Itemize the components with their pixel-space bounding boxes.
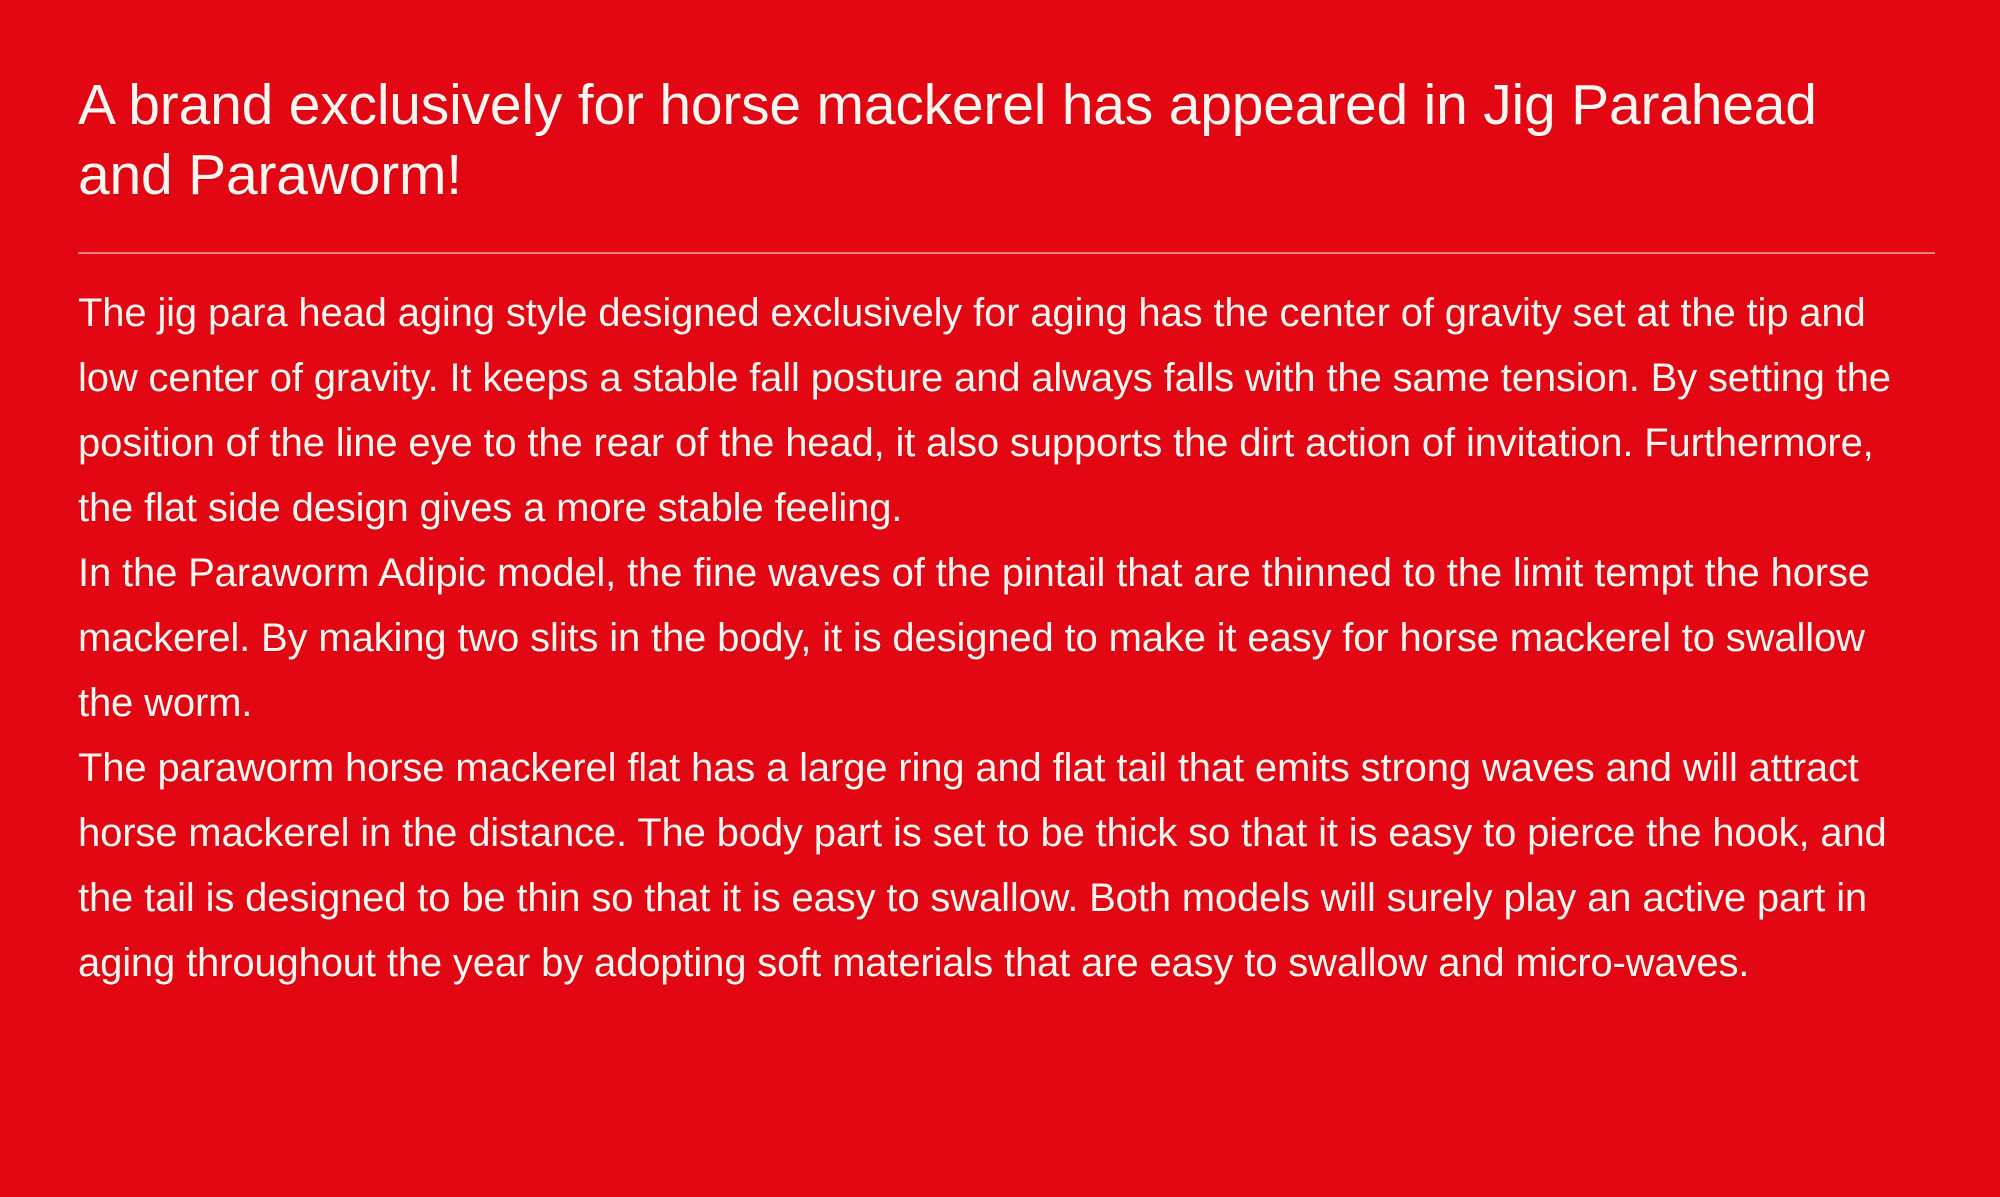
article-content: A brand exclusively for horse mackerel h… bbox=[78, 0, 1923, 996]
article-body: The jig para head aging style designed e… bbox=[78, 281, 1923, 996]
body-paragraph-2: In the Paraworm Adipic model, the fine w… bbox=[78, 541, 1923, 736]
body-paragraph-3: The paraworm horse mackerel flat has a l… bbox=[78, 736, 1923, 996]
page-title: A brand exclusively for horse mackerel h… bbox=[78, 0, 1868, 210]
title-divider bbox=[78, 252, 1935, 254]
page-root: A brand exclusively for horse mackerel h… bbox=[0, 0, 2000, 1197]
body-paragraph-1: The jig para head aging style designed e… bbox=[78, 281, 1923, 541]
